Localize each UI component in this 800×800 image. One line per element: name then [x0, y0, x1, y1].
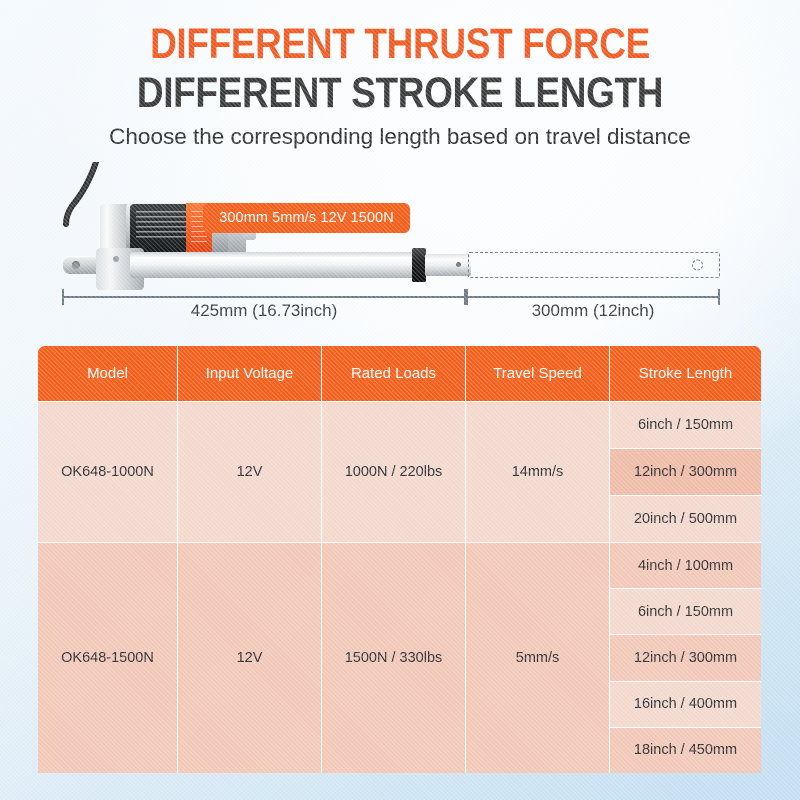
table-row-group: OK648-1500N 12V 1500N / 330lbs 5mm/s 4in…	[38, 542, 761, 773]
dimension-stroke-label: 300mm (12inch)	[466, 301, 720, 321]
table-body: OK648-1000N 12V 1000N / 220lbs 14mm/s 6i…	[38, 401, 761, 773]
tube-end-collar	[412, 248, 426, 282]
column-header-input-voltage: Input Voltage	[178, 346, 322, 401]
specification-table: Model Input Voltage Rated Loads Travel S…	[38, 346, 761, 773]
dimension-bar	[466, 296, 720, 298]
stroke-length-option: 12inch / 300mm	[610, 449, 761, 496]
cell-input-voltage: 12V	[178, 402, 322, 542]
table-header-row: Model Input Voltage Rated Loads Travel S…	[38, 346, 761, 401]
stroke-length-option: 16inch / 400mm	[610, 682, 761, 728]
cell-model: OK648-1000N	[38, 402, 178, 542]
cell-rated-loads: 1500N / 330lbs	[322, 543, 466, 773]
actuator-inner-rod	[425, 254, 471, 276]
rear-mounting-hole	[72, 261, 80, 269]
cell-model: OK648-1500N	[38, 543, 178, 773]
column-header-rated-loads: Rated Loads	[322, 346, 466, 401]
dimension-total-label: 425mm (16.73inch)	[62, 301, 466, 321]
stroke-length-option: 6inch / 150mm	[610, 402, 761, 449]
headline-block: DIFFERENT THRUST FORCE DIFFERENT STROKE …	[0, 22, 800, 115]
headline-line-1: DIFFERENT THRUST FORCE	[56, 22, 744, 67]
stroke-length-list: 4inch / 100mm 6inch / 150mm 12inch / 300…	[610, 543, 761, 773]
stroke-length-option: 4inch / 100mm	[610, 543, 761, 589]
headline-line-2: DIFFERENT STROKE LENGTH	[56, 71, 744, 116]
extension-end-hole-icon	[692, 260, 703, 271]
column-header-stroke-length: Stroke Length	[610, 346, 761, 401]
column-header-model: Model	[38, 346, 178, 401]
stroke-length-option: 18inch / 450mm	[610, 728, 761, 773]
stroke-extension-outline	[468, 252, 720, 278]
actuator-outer-tube	[130, 252, 416, 278]
stroke-length-option: 6inch / 150mm	[610, 589, 761, 635]
dimension-bar	[62, 296, 466, 298]
stroke-length-option: 20inch / 500mm	[610, 496, 761, 542]
dimension-total-length: 425mm (16.73inch)	[62, 285, 466, 325]
cell-input-voltage: 12V	[178, 543, 322, 773]
stroke-length-option: 12inch / 300mm	[610, 635, 761, 681]
spec-badge: 300mm 5mm/s 12V 1500N	[203, 203, 410, 233]
dimension-stroke-length: 300mm (12inch)	[466, 285, 720, 325]
column-header-travel-speed: Travel Speed	[466, 346, 610, 401]
cell-travel-speed: 5mm/s	[466, 543, 610, 773]
cell-travel-speed: 14mm/s	[466, 402, 610, 542]
stroke-length-list: 6inch / 150mm 12inch / 300mm 20inch / 50…	[610, 402, 761, 542]
power-cable-icon	[62, 162, 102, 232]
subtitle: Choose the corresponding length based on…	[0, 124, 800, 150]
cell-rated-loads: 1000N / 220lbs	[322, 402, 466, 542]
infographic-page: DIFFERENT THRUST FORCE DIFFERENT STROKE …	[0, 0, 800, 800]
table-row-group: OK648-1000N 12V 1000N / 220lbs 14mm/s 6i…	[38, 401, 761, 542]
